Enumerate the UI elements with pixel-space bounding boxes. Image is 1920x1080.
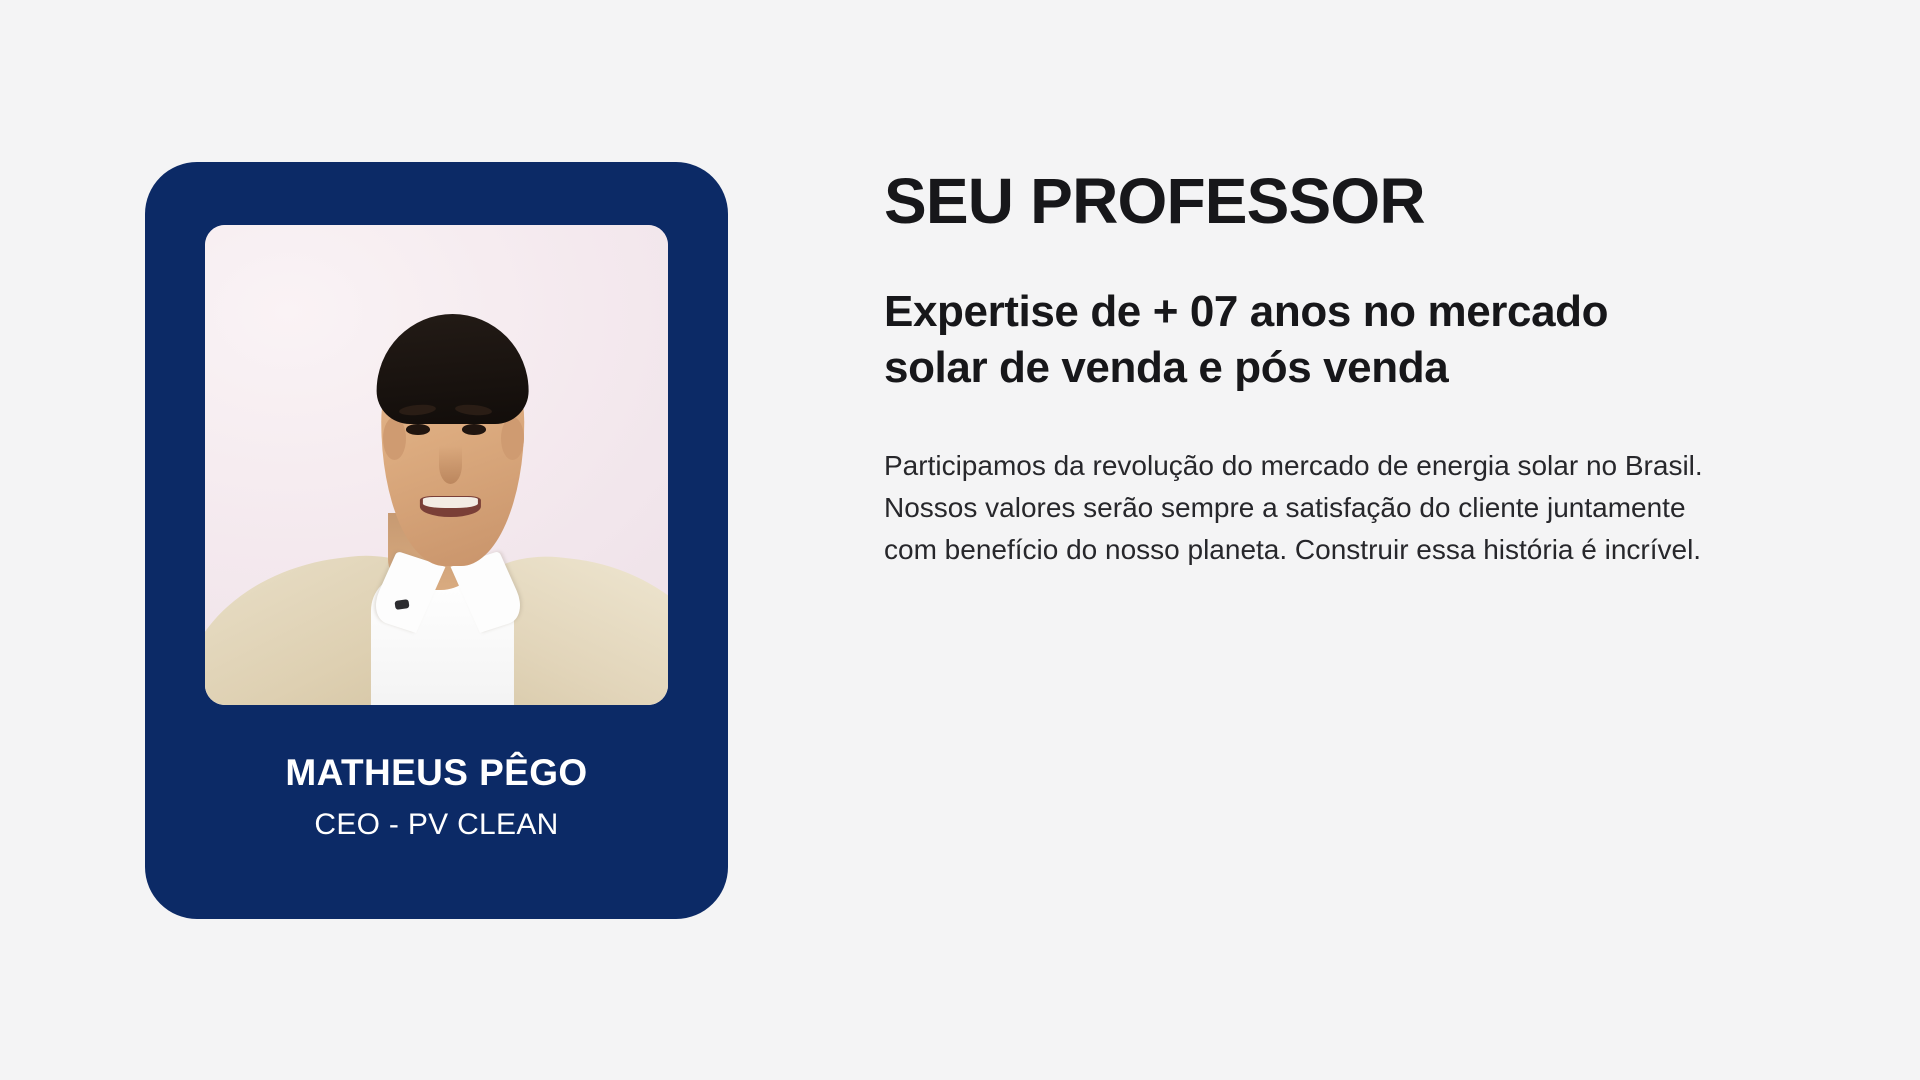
photo-eye-right bbox=[462, 424, 486, 435]
photo-nose bbox=[439, 446, 462, 484]
page-title: SEU PROFESSOR bbox=[884, 168, 1764, 235]
page-root: MATHEUS PÊGO CEO - PV CLEAN SEU PROFESSO… bbox=[0, 0, 1920, 1080]
photo-eye-left bbox=[406, 424, 430, 435]
profile-name: MATHEUS PÊGO bbox=[285, 753, 587, 794]
profile-card: MATHEUS PÊGO CEO - PV CLEAN bbox=[145, 162, 728, 919]
section-subtitle: Expertise de + 07 anos no mercado solar … bbox=[884, 284, 1674, 395]
photo-mouth bbox=[420, 496, 480, 517]
profile-role: CEO - PV CLEAN bbox=[314, 808, 558, 841]
photo-teeth bbox=[423, 497, 478, 508]
photo-lapel-microphone bbox=[394, 599, 409, 610]
content-column: SEU PROFESSOR Expertise de + 07 anos no … bbox=[884, 168, 1764, 570]
body-paragraph: Participamos da revolução do mercado de … bbox=[884, 445, 1746, 570]
profile-photo bbox=[205, 225, 668, 705]
